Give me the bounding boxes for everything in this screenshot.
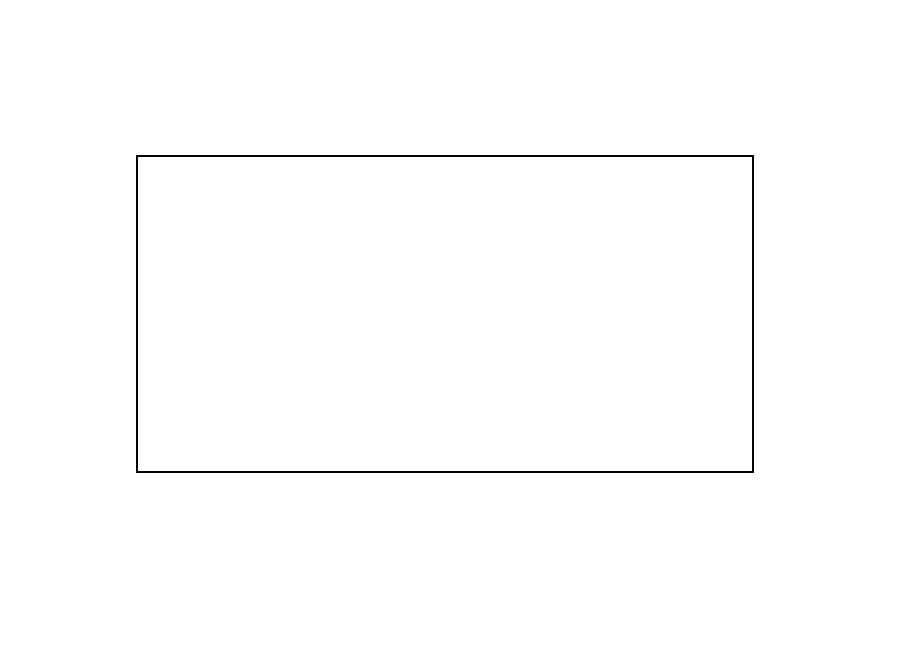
contour-field <box>138 157 752 471</box>
contour-plot-area[interactable] <box>136 155 754 473</box>
